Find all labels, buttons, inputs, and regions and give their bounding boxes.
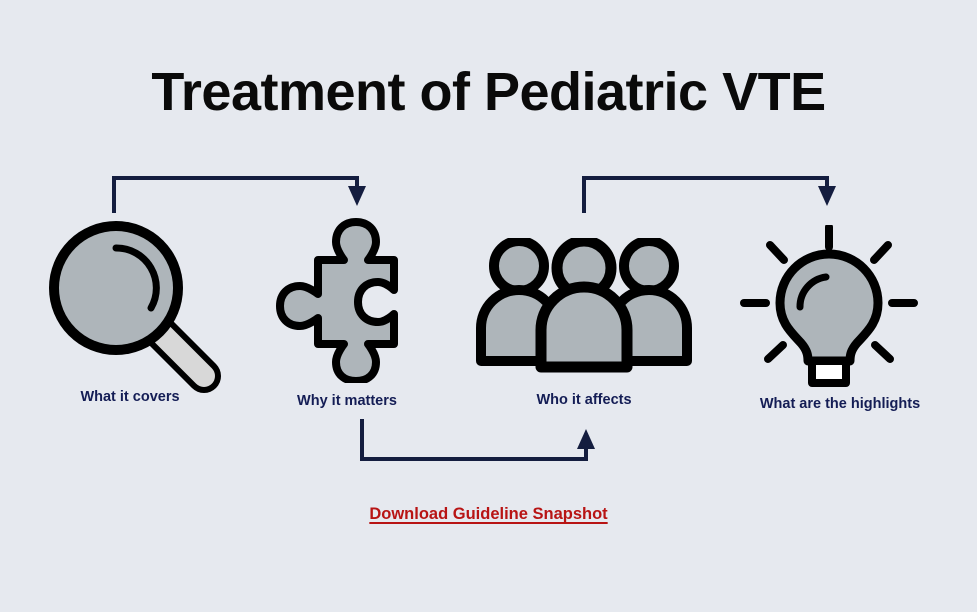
download-link-container: Download Guideline Snapshot <box>0 505 977 524</box>
arrow-affects-to-highlights <box>584 178 836 213</box>
icon-what-are-the-highlights <box>740 225 920 390</box>
label-who-it-affects: Who it affects <box>493 392 675 408</box>
lightbulb-base <box>812 361 846 383</box>
arrow-covers-to-matters <box>114 178 366 213</box>
icon-what-it-covers <box>38 218 223 393</box>
download-guideline-snapshot-link[interactable]: Download Guideline Snapshot <box>369 505 607 523</box>
page-title: Treatment of Pediatric VTE <box>0 63 977 122</box>
arrow-matters-to-affects <box>362 419 595 459</box>
icon-who-it-affects <box>475 238 693 378</box>
label-what-it-covers: What it covers <box>39 389 221 405</box>
lightbulb-glass <box>780 254 878 361</box>
infographic-canvas: Treatment of Pediatric VTE <box>0 0 977 612</box>
people-group-icon <box>475 238 693 378</box>
puzzle-piece-icon <box>274 218 422 383</box>
magnifying-glass-icon <box>38 218 223 393</box>
magnifier-handle <box>158 330 204 376</box>
magnifier-lens <box>49 221 183 355</box>
person-center <box>541 241 627 367</box>
icon-why-it-matters <box>274 218 422 383</box>
lightbulb-icon <box>740 225 920 390</box>
label-what-are-the-highlights: What are the highlights <box>749 396 931 412</box>
label-why-it-matters: Why it matters <box>256 393 438 409</box>
